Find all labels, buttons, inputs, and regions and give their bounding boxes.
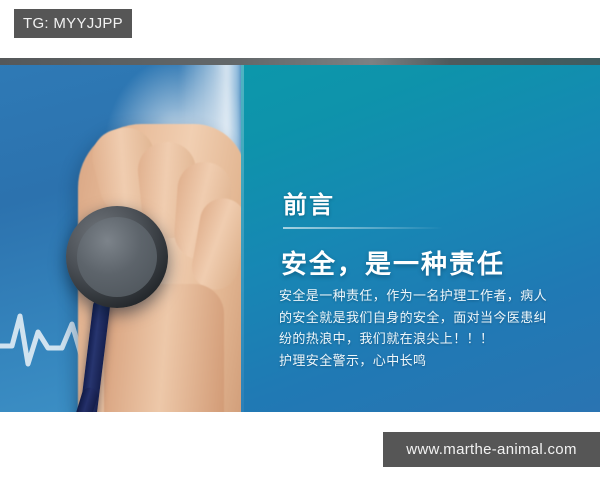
- watermark-bottom-badge: www.marthe-animal.com: [383, 432, 600, 467]
- title-divider: [283, 227, 443, 229]
- slide-kicker: 前言: [283, 185, 335, 220]
- slide-body-text: 安全是一种责任，作为一名护理工作者，病人 的安全就是我们自身的安全，面对当今医患…: [279, 285, 555, 371]
- body-line: 护理安全警示，心中长鸣: [279, 350, 555, 372]
- watermark-bottom-text: www.marthe-animal.com: [406, 441, 577, 458]
- slide-page: TG: MYYJJPP 前言 安全: [0, 0, 600, 480]
- slide-image: 前言 安全，是一种责任 安全是一种责任，作为一名护理工作者，病人 的安全就是我们…: [0, 58, 600, 412]
- body-line: 纷的热浪中，我们就在浪尖上！！！: [279, 328, 555, 350]
- body-line: 安全是一种责任，作为一名护理工作者，病人: [279, 285, 555, 307]
- stethoscope-diaphragm: [77, 217, 157, 297]
- slide-top-edge-strip: [0, 58, 600, 65]
- stethoscope-photo-panel: [0, 58, 241, 412]
- slide-headline: 安全，是一种责任: [281, 244, 505, 281]
- text-panel: 前言 安全，是一种责任 安全是一种责任，作为一名护理工作者，病人 的安全就是我们…: [241, 58, 600, 412]
- watermark-top-badge: TG: MYYJJPP: [14, 9, 132, 38]
- watermark-top-text: TG: MYYJJPP: [23, 15, 123, 32]
- stethoscope-chestpiece: [66, 206, 168, 308]
- body-line: 的安全就是我们自身的安全，面对当今医患纠: [279, 307, 555, 329]
- panel-left-edge: [241, 58, 244, 412]
